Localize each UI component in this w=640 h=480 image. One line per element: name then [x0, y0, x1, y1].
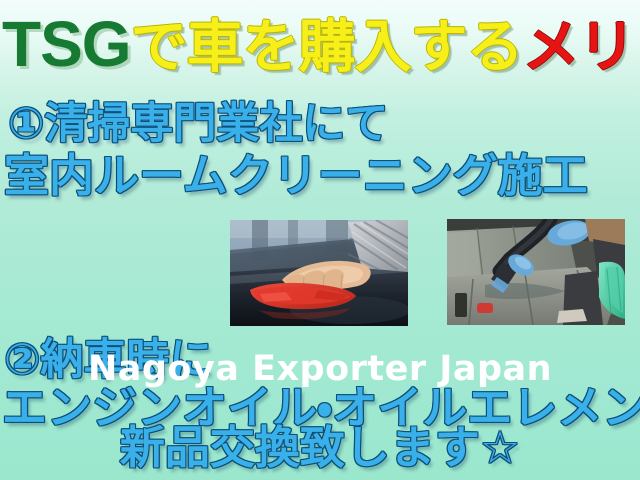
exterior-polish-photo: [230, 220, 408, 326]
watermark: Nagoya Exporter Japan: [0, 348, 640, 390]
headline: TSGで車を購入するメリット: [0, 4, 640, 84]
benefit-one-line-2: 室内ルームクリーニング施工: [4, 150, 640, 202]
benefit-two-line-3: 新品交換致します☆: [0, 422, 640, 474]
headline-segment-middle: で車を購入する: [131, 14, 523, 80]
benefit-one-line-1: ①清掃専門業社にて: [8, 98, 640, 150]
interior-seat-cleaning-photo: [447, 219, 625, 325]
promo-banner: TSGで車を購入するメリット ①清掃専門業社にて 室内ルームクリーニング施工: [0, 0, 640, 480]
headline-segment-merit: メリット: [523, 14, 640, 80]
interior-seat-cleaning-photo-art: [447, 219, 625, 325]
headline-segment-brand: TSG: [2, 8, 131, 80]
exterior-polish-photo-art: [230, 220, 408, 326]
